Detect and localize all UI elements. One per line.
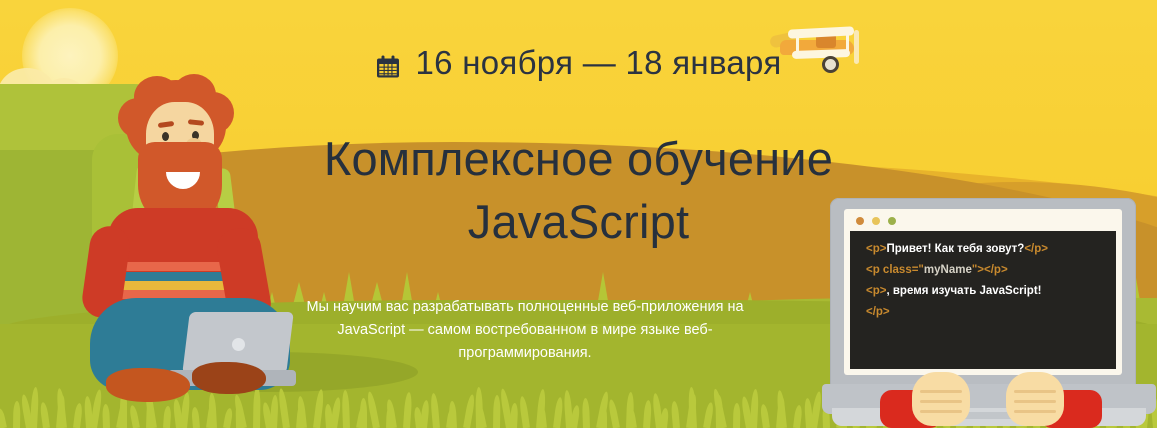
- code-attr-value: myName: [924, 264, 972, 276]
- code-text: , время изучать JavaScript!: [886, 285, 1041, 297]
- code-mid-tag: ">: [972, 264, 984, 276]
- code-open-tag: </p>: [866, 306, 890, 318]
- code-open-tag: <p>: [866, 285, 886, 297]
- code-close-tag: </p>: [1024, 243, 1048, 255]
- code-editor[interactable]: <p>Привет! Как тебя зовут?</p> <p class=…: [850, 231, 1116, 369]
- promo-banner: 16 ноября — 18 января Комплексное обучен…: [0, 0, 1157, 428]
- headline-line-1: Комплексное обучение: [324, 132, 833, 185]
- code-line: <p class="myName"></p>: [850, 260, 1116, 281]
- laptop-screen-frame: <p>Привет! Как тебя зовут?</p> <p class=…: [830, 198, 1136, 386]
- code-close-tag: </p>: [984, 264, 1008, 276]
- window-dot-minimize[interactable]: [872, 217, 880, 225]
- laptop-screen: <p>Привет! Как тебя зовут?</p> <p class=…: [844, 209, 1122, 375]
- window-dot-maximize[interactable]: [888, 217, 896, 225]
- code-window-titlebar: [844, 209, 1122, 231]
- description-text: Мы научим вас разрабатывать полноценные …: [286, 296, 764, 366]
- calendar-icon: [375, 50, 401, 76]
- code-open-tag: <p class=": [866, 264, 924, 276]
- dateline-text: 16 ноября — 18 января: [415, 44, 781, 82]
- code-open-tag: <p>: [866, 243, 886, 255]
- code-line: <p>, время изучать JavaScript!: [850, 281, 1116, 302]
- dateline: 16 ноября — 18 января: [0, 44, 1157, 82]
- typing-hands: [880, 366, 1102, 428]
- code-text: Привет! Как тебя зовут?: [886, 243, 1024, 255]
- code-line: </p>: [850, 302, 1116, 323]
- window-dot-close[interactable]: [856, 217, 864, 225]
- code-line: <p>Привет! Как тебя зовут?</p>: [850, 239, 1116, 260]
